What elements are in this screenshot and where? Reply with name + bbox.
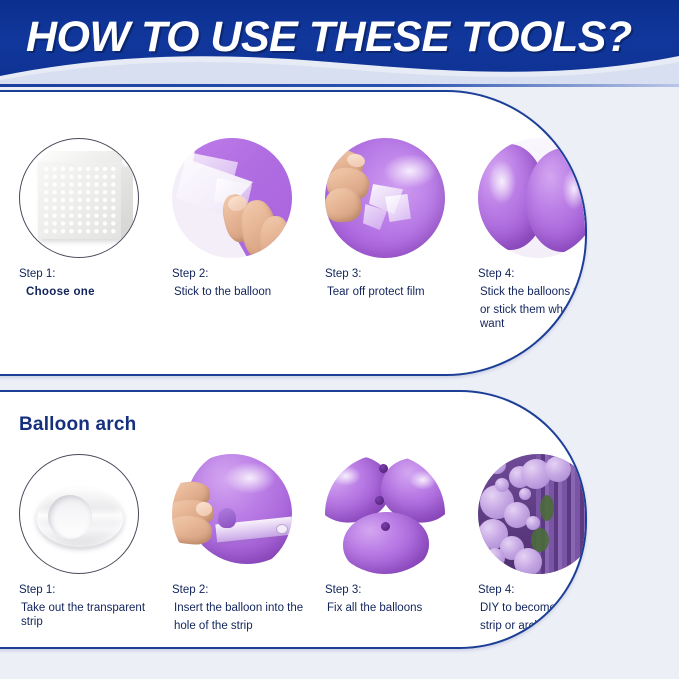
step-text-line2: or stick them where you want	[478, 303, 587, 331]
step-text-line2: hole of the strip	[172, 619, 322, 633]
step-cell: Step 1: Take out the transparent strip	[19, 454, 169, 629]
step-label: Step 3:	[325, 583, 475, 597]
peeling-film-image	[325, 138, 445, 258]
page-header: HOW TO USE THESE TOOLS?	[0, 0, 679, 86]
glue-dot-sheet-image	[19, 138, 139, 258]
step-text: Tear off protect film	[325, 285, 475, 299]
step-label: Step 4:	[478, 583, 587, 597]
step-cell: Step 3: Fix all the balloons	[325, 454, 475, 615]
step-text: Stick the balloons together	[478, 285, 587, 299]
header-underline	[0, 84, 679, 87]
step-label: Step 1:	[19, 267, 169, 281]
step-text-line2: strip or arch you want	[478, 619, 587, 633]
step-text: DIY to become the balloon	[478, 601, 587, 615]
step-label: Step 3:	[325, 267, 475, 281]
step-text: Take out the transparent strip	[19, 601, 169, 629]
transparent-tape-roll-image	[19, 454, 139, 574]
panel-glue-dots: Step 1: Choose one Step 2: Stick to the …	[0, 90, 587, 376]
step-cell: Step 4: Stick the balloons together or s…	[478, 138, 587, 331]
step-cell: Step 2: Stick to the balloon	[172, 138, 322, 299]
balloon-arch-decor-image	[478, 454, 587, 574]
step-text: Choose one	[19, 285, 169, 299]
step-label: Step 2:	[172, 583, 322, 597]
step-cell: Step 3: Tear off protect film	[325, 138, 475, 299]
header-wave-decoration	[0, 46, 679, 86]
hand-sticking-dot-image	[172, 138, 292, 258]
section-title: Balloon arch	[19, 414, 136, 436]
infographic-page: HOW TO USE THESE TOOLS? Step 1: Choose o…	[0, 0, 679, 679]
step-text: Stick to the balloon	[172, 285, 322, 299]
step-text: Insert the balloon into the	[172, 601, 322, 615]
inserting-balloon-image	[172, 454, 292, 574]
step-cell: Step 2: Insert the balloon into the hole…	[172, 454, 322, 633]
step-label: Step 4:	[478, 267, 587, 281]
step-cell: Step 1: Choose one	[19, 138, 169, 299]
panel-balloon-arch: Balloon arch Step 1: Take out the transp…	[0, 390, 587, 649]
fixed-balloons-image	[325, 454, 445, 574]
two-balloons-stuck-image	[478, 138, 587, 258]
step-label: Step 1:	[19, 583, 169, 597]
step-text: Fix all the balloons	[325, 601, 475, 615]
step-cell: Step 4: DIY to become the balloon strip …	[478, 454, 587, 633]
step-label: Step 2:	[172, 267, 322, 281]
